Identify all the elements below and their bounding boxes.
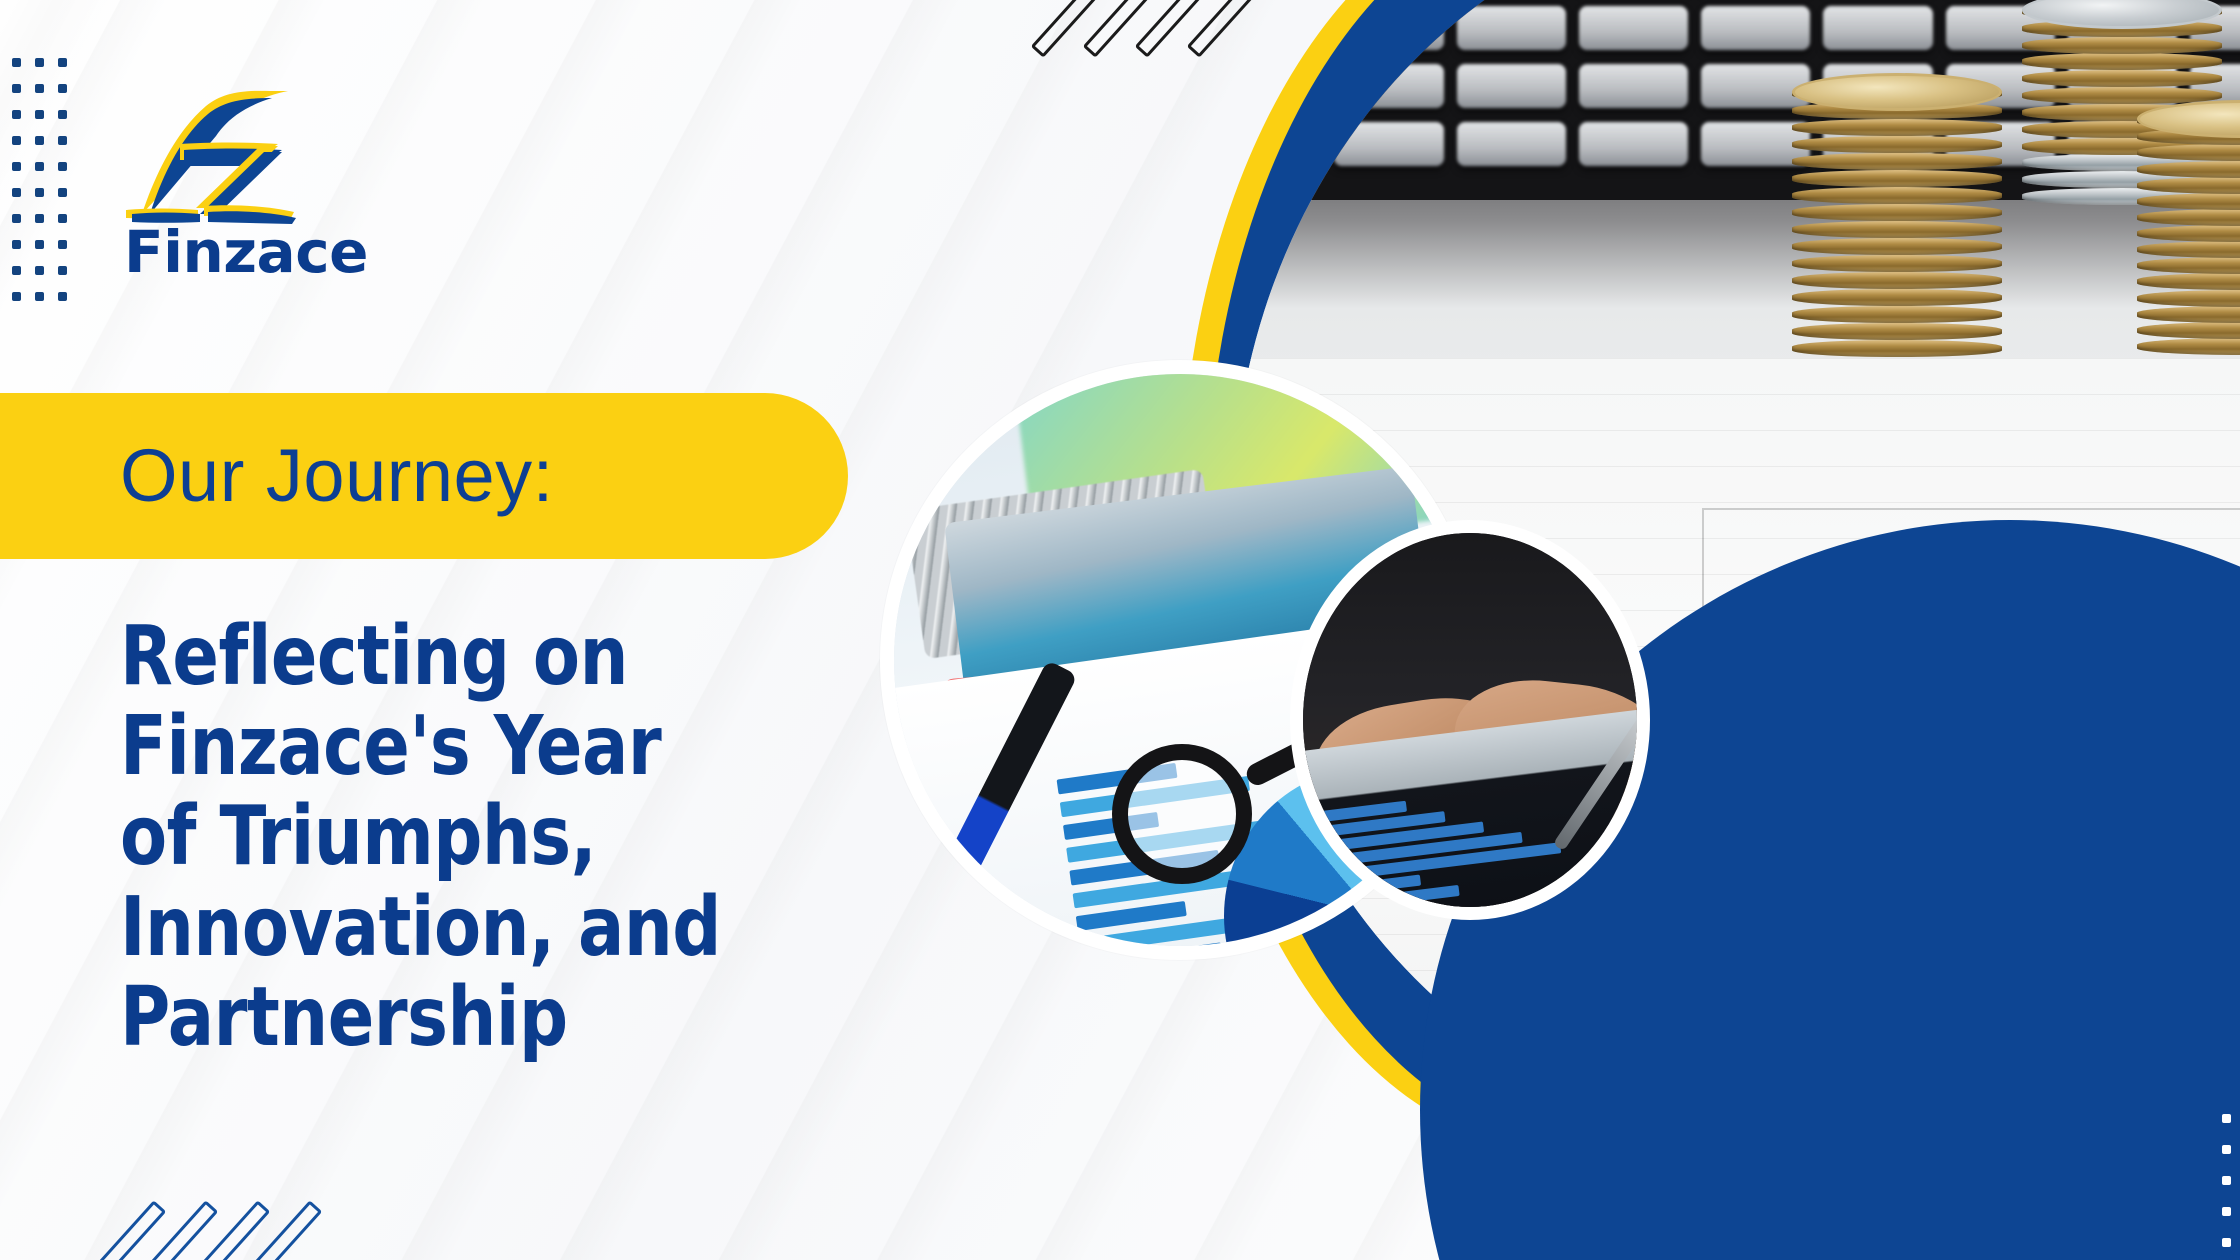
coin	[1792, 221, 2002, 238]
page-title-line-2: Finzace's Year	[120, 702, 883, 792]
keyboard-key	[1579, 122, 1688, 166]
eyebrow-banner: Our Journey:	[0, 393, 848, 559]
coin	[1792, 306, 2002, 323]
coin	[1792, 255, 2002, 272]
coin	[1792, 238, 2002, 255]
keyboard-key	[1823, 6, 1932, 50]
dot	[35, 84, 44, 93]
dot	[2222, 1114, 2231, 1123]
keyboard-key	[1457, 122, 1566, 166]
coin	[2137, 177, 2240, 194]
page-title-line-3: of Triumphs,	[120, 792, 883, 882]
dot	[35, 58, 44, 67]
page-title-line-4: Innovation, and	[120, 883, 883, 973]
dot	[58, 110, 67, 119]
dot	[2222, 1145, 2231, 1154]
keyboard-key	[1334, 64, 1443, 108]
poster-canvas: Finzace Our Journey: Reflecting onFinzac…	[0, 0, 2240, 1260]
decorative-dot-grid-top-left	[12, 58, 92, 298]
dot	[35, 188, 44, 197]
dot	[2222, 1238, 2231, 1247]
dot	[12, 162, 21, 171]
circle-photo-hands-laptop	[1290, 520, 1650, 920]
coin	[2137, 338, 2240, 355]
dot	[12, 110, 21, 119]
coin	[1792, 323, 2002, 340]
coin	[2137, 225, 2240, 242]
coin	[2137, 257, 2240, 274]
keyboard-key	[1579, 64, 1688, 108]
coin	[1792, 170, 2002, 187]
coin	[2137, 290, 2240, 307]
coin-stack-3	[2137, 88, 2240, 358]
coin	[2022, 70, 2222, 87]
dot	[12, 292, 21, 301]
dot	[35, 162, 44, 171]
dot	[2222, 1176, 2231, 1185]
hero-artwork: mberOctoberNovemberDecember JanuaryFebru…	[1180, 0, 2240, 1260]
keyboard-key	[1334, 122, 1443, 166]
eyebrow-label: Our Journey:	[120, 439, 554, 513]
dot	[35, 240, 44, 249]
blue-block-shape	[1780, 730, 2240, 1260]
keyboard-key	[1701, 6, 1810, 50]
keyboard-key	[1457, 64, 1566, 108]
dot	[12, 240, 21, 249]
dot	[12, 136, 21, 145]
coin	[2022, 37, 2222, 54]
coin	[2137, 241, 2240, 258]
keyboard-key	[1232, 122, 1321, 166]
diagonal-stroke	[71, 1200, 167, 1260]
coin	[2137, 161, 2240, 178]
dot	[12, 84, 21, 93]
decorative-diagonal-strokes-bottom-left	[110, 1190, 330, 1260]
coin	[1792, 204, 2002, 221]
dot	[35, 266, 44, 275]
dot	[58, 162, 67, 171]
dot	[58, 136, 67, 145]
dot	[35, 214, 44, 223]
coin-stack-1	[1792, 60, 2002, 360]
keyboard-key	[1579, 6, 1688, 50]
dot	[2222, 1207, 2231, 1216]
keyboard-key	[1232, 64, 1321, 108]
coin	[2137, 273, 2240, 290]
coin	[2137, 209, 2240, 226]
dot	[12, 214, 21, 223]
keyboard-key	[1232, 6, 1321, 50]
page-title: Reflecting onFinzace's Yearof Triumphs,I…	[120, 612, 883, 1063]
coin	[1792, 340, 2002, 357]
coin	[1792, 272, 2002, 289]
dot	[12, 188, 21, 197]
dot	[35, 292, 44, 301]
magnifier-icon	[1112, 744, 1252, 884]
coin-top-face	[1792, 73, 2002, 111]
brand-logo[interactable]: Finzace	[118, 88, 438, 286]
dot	[58, 214, 67, 223]
coin	[1792, 136, 2002, 153]
page-title-line-1: Reflecting on	[120, 612, 883, 702]
dot	[35, 136, 44, 145]
paper-rule-line	[1232, 358, 2240, 359]
dot	[58, 266, 67, 275]
dot	[58, 58, 67, 67]
dot	[12, 266, 21, 275]
coin	[2137, 144, 2240, 161]
keyboard-key	[1457, 6, 1566, 50]
coin	[1792, 119, 2002, 136]
dot	[58, 240, 67, 249]
coin	[2137, 306, 2240, 323]
dot	[58, 292, 67, 301]
coin	[2022, 53, 2222, 70]
brand-wordmark: Finzace	[124, 218, 438, 286]
coin	[2137, 193, 2240, 210]
coin	[1792, 289, 2002, 306]
coin	[2137, 322, 2240, 339]
dot	[35, 110, 44, 119]
coin	[1792, 187, 2002, 204]
coin	[1792, 153, 2002, 170]
dot	[12, 58, 21, 67]
page-title-line-5: Partnership	[120, 973, 883, 1063]
dot	[58, 84, 67, 93]
keyboard-key	[1334, 6, 1443, 50]
decorative-dot-grid-bottom-right	[2222, 1114, 2240, 1260]
finzace-fz-monogram-icon	[118, 88, 296, 224]
dot	[58, 188, 67, 197]
